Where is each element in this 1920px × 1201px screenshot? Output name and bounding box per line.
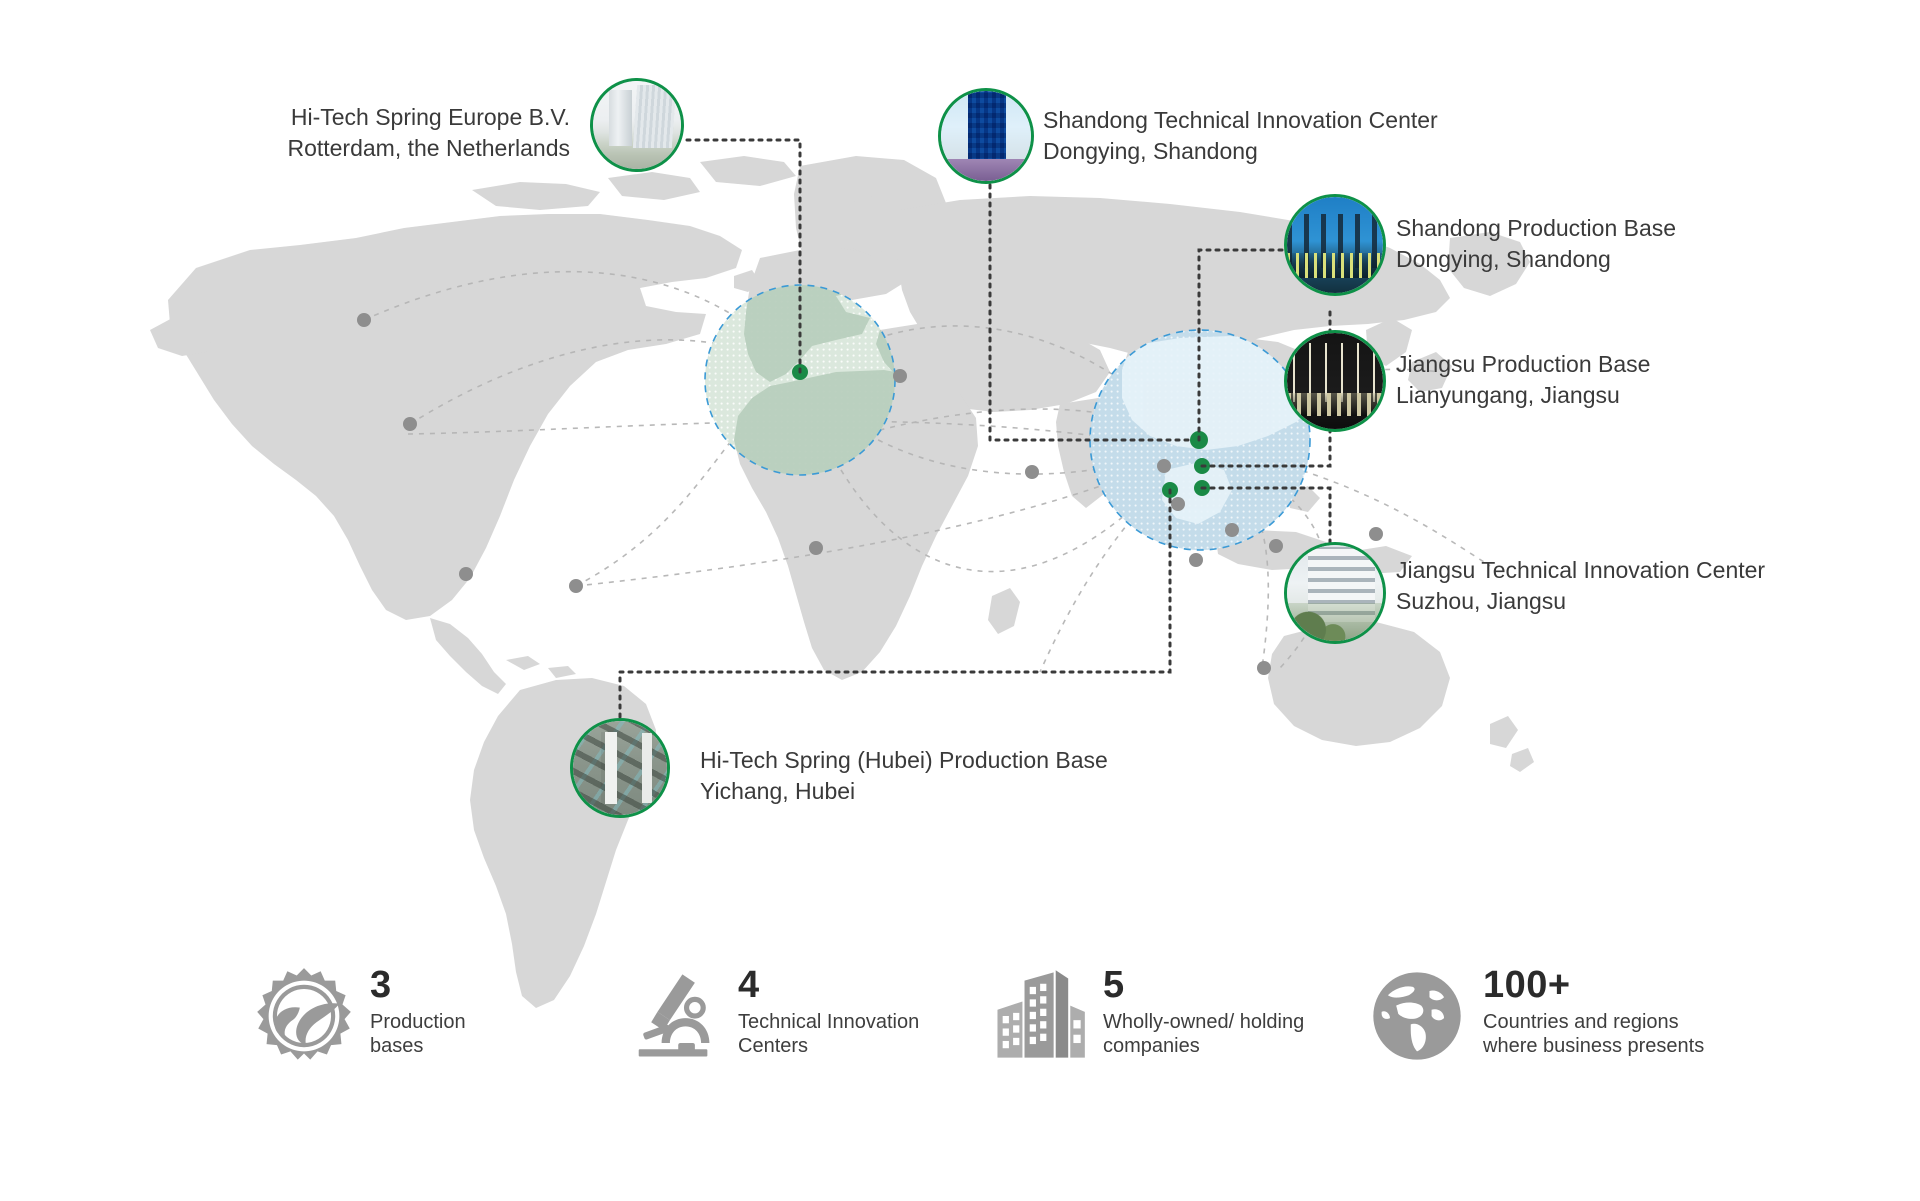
stat-wholly-owned-holding-companies-number: 5 (1103, 966, 1304, 1004)
stat-countries-and-regions-number: 100+ (1483, 966, 1704, 1004)
stat-technical-innovation-centers: 4 Technical Innovation Centers (620, 960, 919, 1068)
location-label-rotterdam-line1: Hi-Tech Spring Europe B.V. (215, 102, 570, 133)
location-label-rotterdam: Hi-Tech Spring Europe B.V. Rotterdam, th… (215, 102, 570, 164)
glass-office-building-photo (593, 81, 681, 169)
location-label-jiangsu-tic: Jiangsu Technical Innovation Center Suzh… (1396, 555, 1765, 617)
location-photo-shandong-pb[interactable] (1284, 194, 1386, 296)
location-label-hubei-pb-line2: Yichang, Hubei (700, 776, 1108, 807)
stat-wholly-owned-holding-companies-description: Wholly-owned/ holding companies (1103, 1010, 1304, 1058)
stat-production-bases-number: 3 (370, 966, 466, 1004)
construction-site-aerial-photo (573, 721, 667, 815)
gear-leaf-icon (252, 964, 356, 1068)
location-label-rotterdam-line2: Rotterdam, the Netherlands (215, 133, 570, 164)
petrochemical-plant-photo (1287, 197, 1383, 293)
location-label-shandong-pb: Shandong Production Base Dongying, Shand… (1396, 213, 1676, 275)
stat-production-bases: 3 Production bases (252, 960, 466, 1068)
location-label-jiangsu-pb: Jiangsu Production Base Lianyungang, Jia… (1396, 349, 1650, 411)
location-photo-shandong-tic[interactable] (938, 88, 1034, 184)
location-label-hubei-pb-line1: Hi-Tech Spring (Hubei) Production Base (700, 745, 1108, 776)
microscope-icon (620, 964, 724, 1068)
global-footprint-infographic: Hi-Tech Spring Europe B.V. Rotterdam, th… (0, 0, 1920, 1201)
stat-countries-and-regions: 100+ Countries and regions where busines… (1365, 960, 1704, 1068)
stat-technical-innovation-centers-description: Technical Innovation Centers (738, 1010, 919, 1058)
night-refinery-photo (1287, 333, 1383, 429)
stat-wholly-owned-holding-companies: 5 Wholly-owned/ holding companies (985, 960, 1304, 1068)
buildings-icon (985, 964, 1089, 1068)
location-photo-jiangsu-tic[interactable] (1284, 542, 1386, 644)
stat-countries-and-regions-text: 100+ Countries and regions where busines… (1483, 960, 1704, 1058)
stat-production-bases-description: Production bases (370, 1010, 466, 1058)
stat-technical-innovation-centers-number: 4 (738, 966, 919, 1004)
location-label-shandong-pb-line1: Shandong Production Base (1396, 213, 1676, 244)
location-label-shandong-tic-line1: Shandong Technical Innovation Center (1043, 105, 1438, 136)
location-label-jiangsu-tic-line2: Suzhou, Jiangsu (1396, 586, 1765, 617)
location-label-shandong-tic-line2: Dongying, Shandong (1043, 136, 1438, 167)
statistics-row: 3 Production bases (0, 960, 1920, 1120)
stat-wholly-owned-holding-companies-text: 5 Wholly-owned/ holding companies (1103, 960, 1304, 1058)
stat-production-bases-text: 3 Production bases (370, 960, 466, 1058)
blue-glass-tower-photo (941, 91, 1031, 181)
location-label-hubei-pb: Hi-Tech Spring (Hubei) Production Base Y… (700, 745, 1108, 807)
location-photo-hubei-pb[interactable] (570, 718, 670, 818)
location-label-jiangsu-tic-line1: Jiangsu Technical Innovation Center (1396, 555, 1765, 586)
location-label-jiangsu-pb-line1: Jiangsu Production Base (1396, 349, 1650, 380)
stat-countries-and-regions-description: Countries and regions where business pre… (1483, 1010, 1704, 1058)
location-photo-jiangsu-pb[interactable] (1284, 330, 1386, 432)
globe-icon (1365, 964, 1469, 1068)
location-label-shandong-pb-line2: Dongying, Shandong (1396, 244, 1676, 275)
location-photo-rotterdam[interactable] (590, 78, 684, 172)
location-label-jiangsu-pb-line2: Lianyungang, Jiangsu (1396, 380, 1650, 411)
stat-technical-innovation-centers-text: 4 Technical Innovation Centers (738, 960, 919, 1058)
white-office-greenery-photo (1287, 545, 1383, 641)
location-label-shandong-tic: Shandong Technical Innovation Center Don… (1043, 105, 1438, 167)
